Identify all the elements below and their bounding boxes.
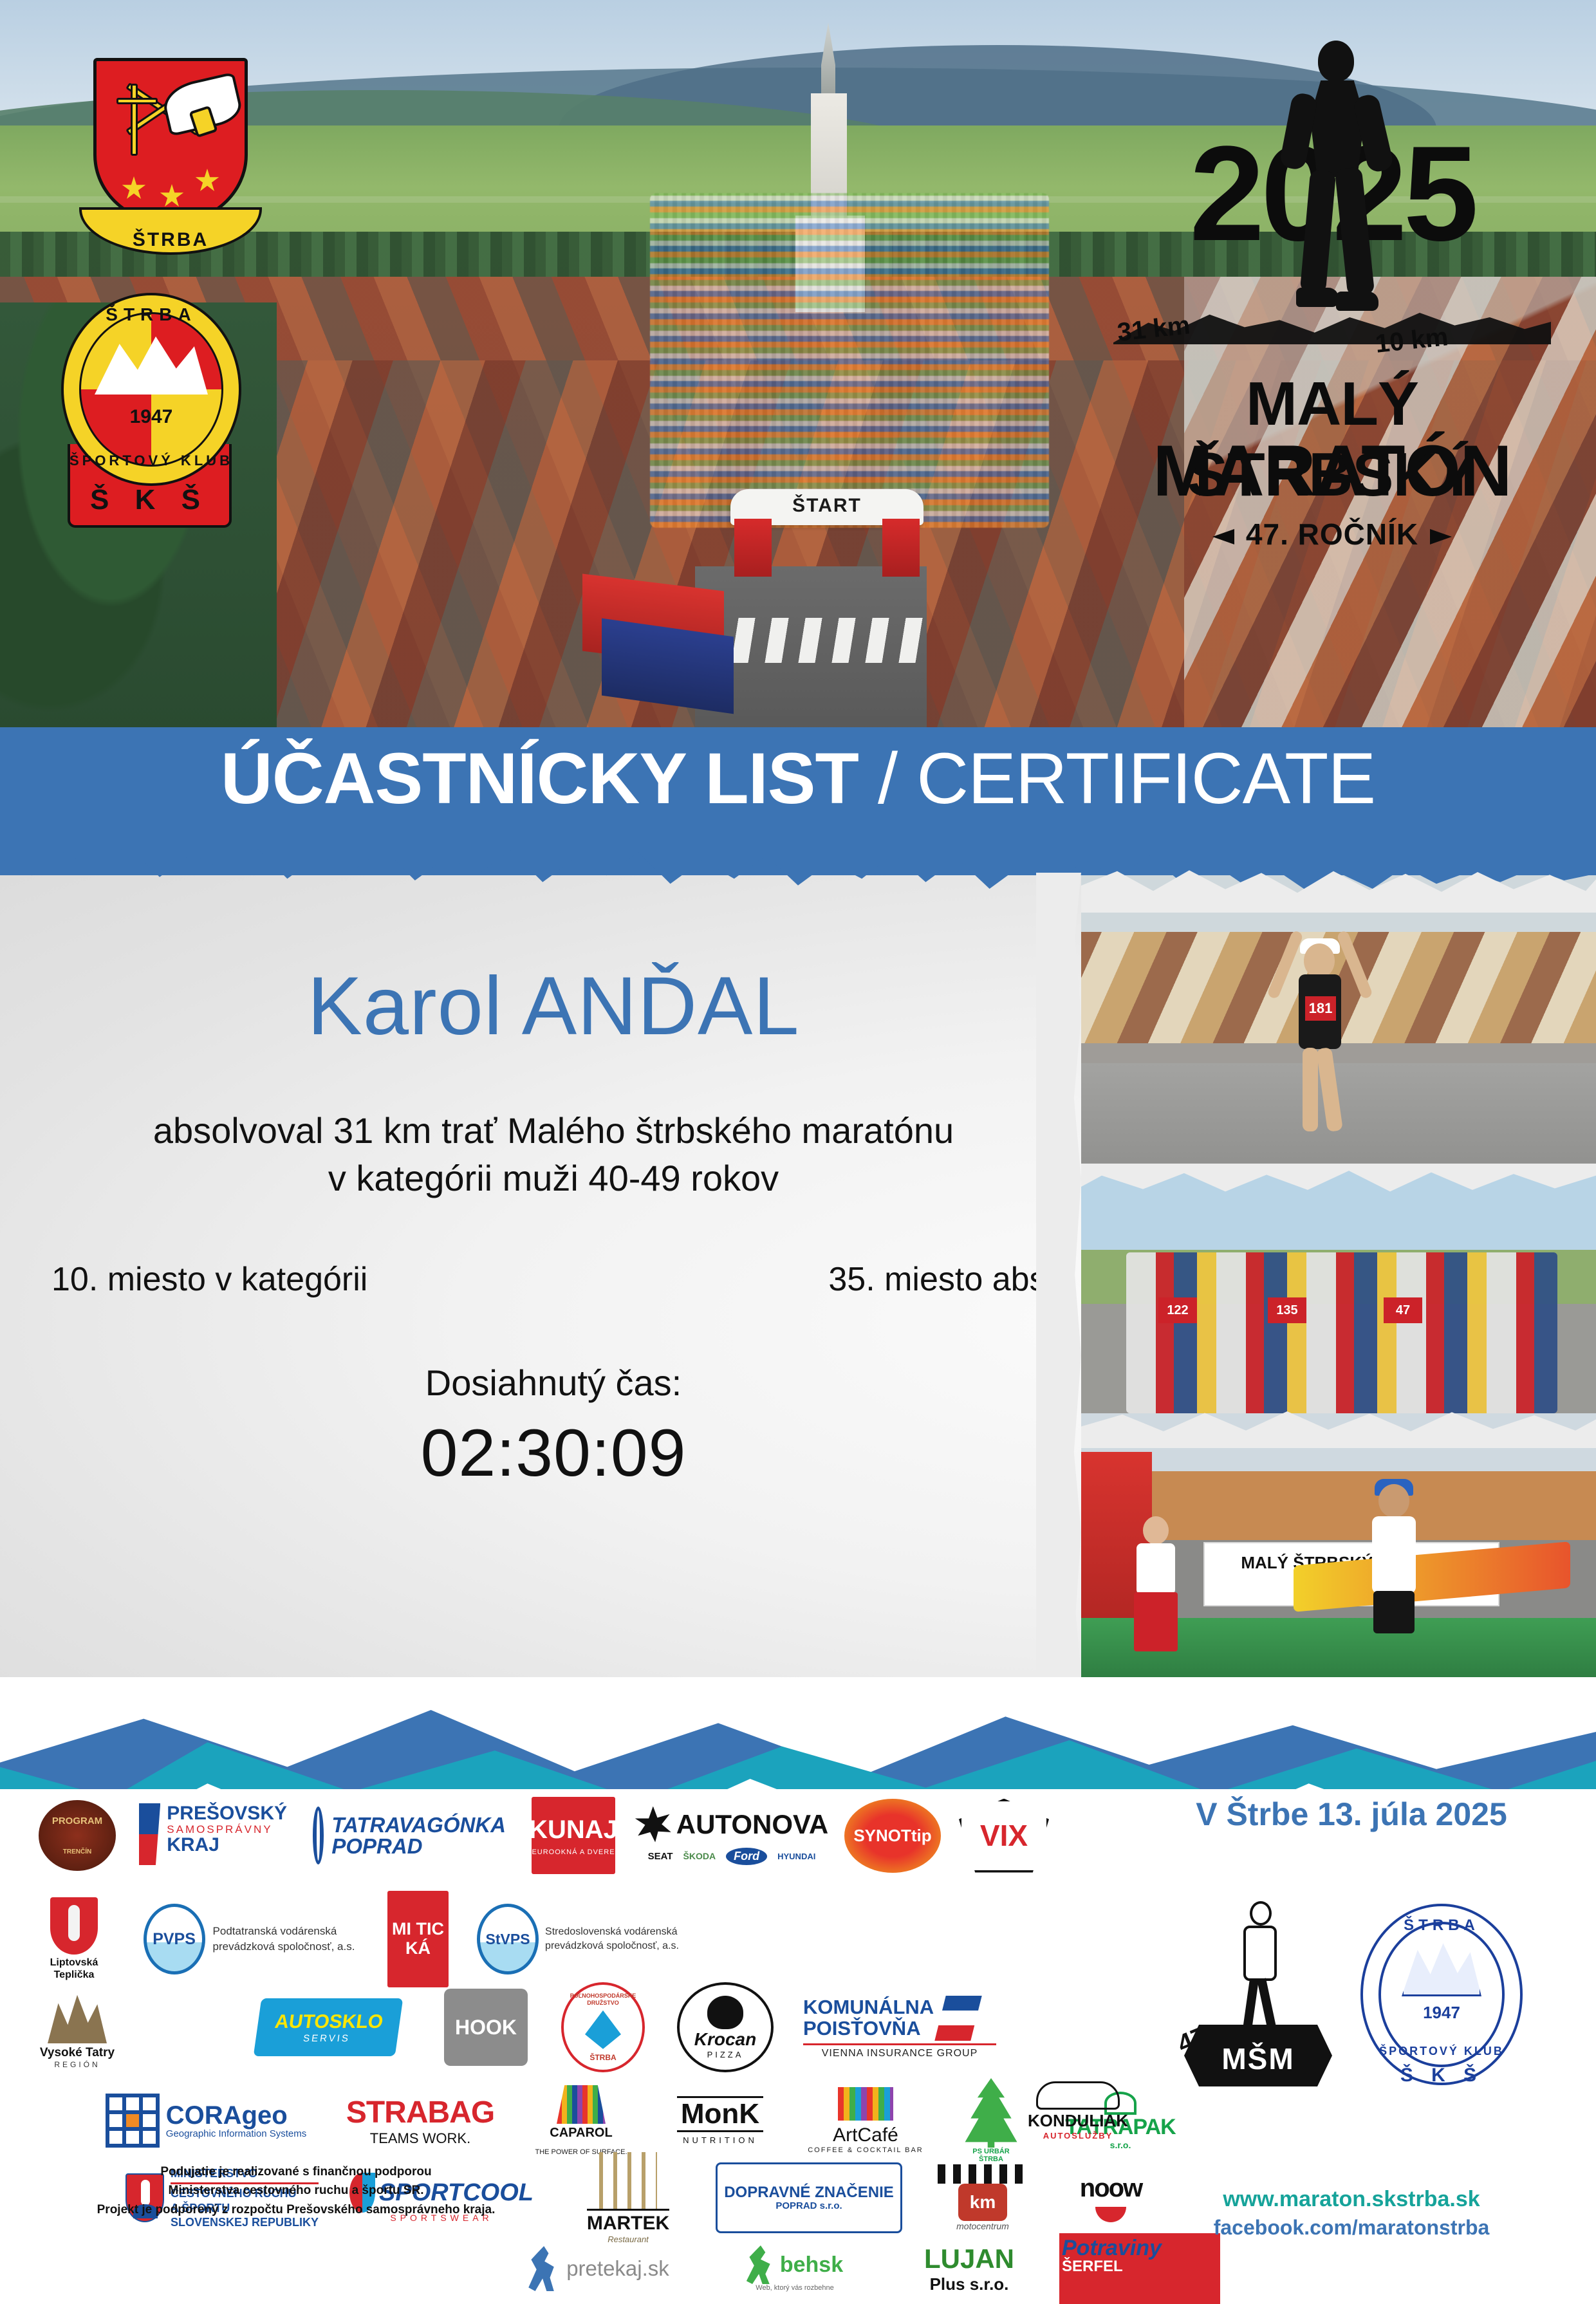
sponsor-miticka-name: MI TIC KÁ [387, 1920, 449, 1958]
sponsor-martek[interactable]: MARTEK Restaurant [564, 2150, 692, 2246]
sponsor-beh-sk[interactable]: behsk Web, ktorý vás rozbehne [714, 2236, 875, 2301]
certificate-description: absolvoval 31 km trať Malého štrbského m… [0, 1107, 1107, 1202]
place-absolute: 35. miesto abs. [828, 1260, 1055, 1299]
official-stamps: 47. MŠM ŠTRBA 1947 ŠPORTOVÝ KLUB Š K Š [1152, 1886, 1551, 2098]
sponsor-tatravagonka[interactable]: TATRAVAGÓNKA POPRAD [313, 1803, 506, 1868]
photo3-winner-shorts [1373, 1591, 1415, 1633]
photo3-folk-girl [1126, 1516, 1184, 1651]
sponsor-krocan-pizza[interactable]: Krocan PIZZA [677, 1982, 774, 2072]
sponsor-corageo-name: CORAgeo [166, 2102, 306, 2129]
pretekaj-runner-icon [528, 2246, 561, 2291]
sponsor-konduliak[interactable]: KONDULIAK AUTOSLUŽBY [1017, 2072, 1139, 2150]
club-logo-bottom-text: ŠPORTOVÝ KLUB [61, 452, 241, 469]
sponsor-km-name: km [958, 2184, 1007, 2221]
sponsor-tatravagonka-name: TATRAVAGÓNKA [331, 1814, 506, 1835]
sponsor-liptovska-teplicka[interactable]: Liptovská Teplička [39, 1897, 109, 1981]
place-category: 10. miesto v kategórii [51, 1260, 367, 1299]
facebook-link[interactable]: facebook.com/maratonstrba [1146, 2216, 1557, 2240]
footer: PROGRAM TRENČÍN PREŠOVSKÝ SAMOSPRÁVNY KR… [0, 1789, 1596, 2258]
photo-finish-line: MALÝ ŠTRBSKÝ MARATÓN [1081, 1413, 1596, 1677]
artcafe-icon [838, 2087, 893, 2121]
sponsor-dopravne-znacenie-sub: POPRAD s.r.o. [775, 2200, 842, 2211]
sponsor-row-2b: AUTOSKLO SERVIS HOOK POĽNOHOSPODÁRSKE DR… [257, 1982, 1016, 2072]
tatravagonka-icon [313, 1807, 324, 1864]
sponsor-pvps-name: PVPS [153, 1930, 196, 1949]
sponsor-vysoke-tatry-sub: REGIÓN [54, 2060, 100, 2069]
sponsor-autonova[interactable]: AUTONOVA SEAT ŠKODA Ford HYUNDAI [638, 1797, 825, 1874]
participant-name: Karol ANĎAL [0, 965, 1107, 1048]
time-label: Dosiahnutý čas: [0, 1362, 1107, 1404]
sponsor-tatravagonka-sub: POPRAD [331, 1835, 506, 1857]
stvps-icon: StVPS [477, 1904, 539, 1974]
sponsor-stvps-sub: Stredoslovenská vodárenská [545, 1925, 679, 1939]
hero-photo: ŠTART ŠTRBA Š K Š ŠTRBA 1947 ŠPORTOVÝ KL… [0, 0, 1596, 740]
sponsor-presovsky-kraj[interactable]: PREŠOVSKÝ SAMOSPRÁVNY KRAJ [139, 1803, 287, 1868]
start-arch-leg-right [882, 519, 920, 577]
distance-ridge: 31 km 10 km [1107, 293, 1557, 370]
photo2-bib-a: 122 [1158, 1297, 1197, 1323]
sponsor-hook-name: HOOK [455, 2016, 517, 2039]
sponsor-kunaj-sub: EUROOKNÁ A DVERE [532, 1848, 615, 1856]
description-line-2: v kategórii muži 40-49 rokov [0, 1155, 1107, 1202]
photo1-runner-head [1304, 943, 1335, 978]
msm-runner-head [1250, 1901, 1272, 1926]
sponsor-strabag-name: STRABAG [346, 2095, 494, 2130]
runner-head [1318, 41, 1354, 82]
time-value: 02:30:09 [0, 1415, 1107, 1492]
start-arch-leg-left [734, 519, 772, 577]
sponsor-pd-strba-sub: ŠTRBA [589, 2053, 616, 2062]
sks-stamp-top: ŠTRBA [1351, 1917, 1532, 1935]
sponsor-komunalna-name: KOMUNÁLNA [803, 1997, 934, 2018]
church-spire [821, 23, 835, 100]
sponsor-synottip-name: SYNOTtip [853, 1826, 931, 1846]
runner-leg-right [1335, 167, 1375, 296]
crest-cross-vertical [131, 84, 138, 156]
sponsor-lujan-sub: Plus s.r.o. [930, 2274, 1009, 2294]
sponsor-liptovska-teplicka-sub: Teplička [54, 1969, 95, 1980]
runners-crowd [650, 193, 1049, 528]
sponsor-km-sub: motocentrum [956, 2221, 1009, 2231]
sponsor-konduliak-sub: AUTOSLUŽBY [1043, 2131, 1113, 2141]
sponsor-komunalna-sub2: VIENNA INSURANCE GROUP [803, 2043, 996, 2059]
sponsor-vysoke-tatry-name: Vysoké Tatry [40, 2046, 115, 2060]
event-logo-line2: MARATÓN [1107, 429, 1557, 512]
website-link[interactable]: www.maraton.skstrba.sk [1146, 2187, 1557, 2212]
sponsor-potraviny-name: Potraviny [1062, 2237, 1162, 2259]
photo3-winner [1351, 1478, 1435, 1664]
sponsor-autonova-name: AUTONOVA [676, 1809, 828, 1840]
page-title-separator: / [858, 738, 916, 819]
funding-note-line-2: Ministerstva cestovného ruchu a športu S… [51, 2181, 541, 2200]
photo-runner-group: 122 135 47 [1081, 1169, 1596, 1439]
photo3-girl-skirt [1134, 1592, 1178, 1651]
photo2-runners [1126, 1252, 1557, 1413]
sponsor-synottip[interactable]: SYNOTtip [844, 1799, 941, 1873]
sponsor-program-trencin-name: PROGRAM [52, 1816, 102, 1826]
autonova-star-icon [635, 1807, 671, 1843]
sponsor-logo-wall: PROGRAM TRENČÍN PREŠOVSKÝ SAMOSPRÁVNY KR… [39, 1789, 1133, 2201]
msm-runner-icon [1227, 1899, 1288, 2034]
photo2-bib-b: 135 [1268, 1297, 1306, 1323]
pvps-icon: PVPS [144, 1904, 205, 1974]
sponsor-noow-name: noow [1080, 2174, 1142, 2203]
pd-strba-drop-icon [585, 2011, 621, 2049]
sponsor-konduliak-name: KONDULIAK [1028, 2111, 1128, 2131]
sks-stamp: ŠTRBA 1947 ŠPORTOVÝ KLUB Š K Š [1351, 1895, 1532, 2094]
sponsor-corageo[interactable]: CORAgeo Geographic Information Systems [103, 2085, 309, 2156]
noow-smile-icon [1095, 2207, 1126, 2222]
sponsor-kunaj-name: KUNAJ [529, 1816, 618, 1844]
msm-runner-torso [1243, 1926, 1277, 1981]
sponsor-miticka[interactable]: MI TIC KÁ [387, 1891, 449, 1987]
sponsor-row-6: pretekaj.sk behsk Web, ktorý vás rozbehn… [515, 2233, 1220, 2304]
photo3-girl-blouse [1137, 1543, 1175, 1595]
sponsor-krocan-sub: PIZZA [707, 2050, 744, 2059]
event-logo-edition-wrap: 47. ROČNÍK [1107, 517, 1557, 552]
club-logo-abbr: Š K Š [70, 484, 229, 516]
sponsor-kunaj[interactable]: KUNAJ EUROOKNÁ A DVERE [532, 1797, 615, 1874]
collage-left-edge [1036, 873, 1081, 1677]
club-logo-year: 1947 [61, 406, 241, 428]
sponsor-km-motocentrum[interactable]: km motocentrum [928, 2156, 1037, 2240]
sponsor-liptovska-teplicka-name: Liptovská [50, 1957, 98, 1968]
sponsor-row-4: Vysoké Tatry REGIÓN [39, 1982, 116, 2079]
sponsor-pvps[interactable]: PVPS Podtatranská vodárenská prevádzková… [136, 1900, 362, 1978]
sponsor-lujan-name: LUJAN [924, 2244, 1014, 2274]
sponsor-presovsky-kraj-sub: SAMOSPRÁVNY [167, 1824, 287, 1835]
strba-coat-of-arms: ŠTRBA [93, 58, 248, 225]
sponsor-corageo-sub: Geographic Information Systems [166, 2129, 306, 2139]
martek-cutlery-icon [599, 2152, 657, 2209]
sponsor-potraviny-serfel[interactable]: Potraviny ŠERFEL [1059, 2233, 1220, 2304]
page-title-light: CERTIFICATE [916, 738, 1375, 819]
sponsor-stvps-name: StVPS [486, 1931, 530, 1948]
sponsor-row-2: Liptovská Teplička PVPS Podtatranská vod… [39, 1891, 684, 1987]
sponsor-monk-sub: NUTRITION [683, 2135, 757, 2145]
sponsor-komunalna-sub: POISŤOVŇA [803, 2018, 934, 2039]
sponsor-presovsky-kraj-name: PREŠOVSKÝ [167, 1803, 287, 1824]
sks-stamp-mid: ŠPORTOVÝ KLUB [1351, 2045, 1532, 2058]
placements: 10. miesto v kategórii 35. miesto abs. [0, 1260, 1107, 1299]
sponsor-krocan-name: Krocan [694, 2029, 756, 2050]
arrow-right-icon [1430, 529, 1452, 544]
strba-sport-club-logo: ŠTRBA 1947 ŠPORTOVÝ KLUB [61, 293, 241, 486]
sponsor-dopravne-znacenie[interactable]: DOPRAVNÉ ZNAČENIE POPRAD s.r.o. [716, 2162, 902, 2233]
photo3-winner-vest [1372, 1516, 1416, 1593]
crest-cross-horizontal [116, 98, 158, 104]
runner-leg-left [1300, 170, 1336, 294]
sponsor-pd-strba[interactable]: POĽNOHOSPODÁRSKE DRUŽSTVO ŠTRBA [561, 1982, 645, 2072]
certificate-content: Karol ANĎAL absolvoval 31 km trať Malého… [0, 965, 1107, 1492]
sponsor-hook[interactable]: HOOK [444, 1989, 528, 2066]
funding-note-line-3: Projekt je podporený z rozpočtu Prešovsk… [51, 2200, 541, 2219]
sponsor-seat[interactable]: SEAT [648, 1851, 673, 1862]
crest-ribbon: ŠTRBA [79, 207, 262, 255]
ps-urbar-tree-icon [963, 2078, 1019, 2148]
photo-collage: 181 122 135 47 MALÝ ŠTRBSKÝ MARATÓN [1081, 873, 1596, 1677]
photo1-runner-leg-left [1303, 1048, 1318, 1131]
sponsor-autosklo-sub: SERVIS [302, 2033, 351, 2044]
krocan-turkey-icon [707, 1996, 743, 2029]
komunalna-flag-icon [934, 1996, 981, 2041]
photo2-bib-c: 47 [1384, 1297, 1422, 1323]
event-logo-edition: 47. ROČNÍK [1246, 517, 1418, 551]
photo3-girl-head [1143, 1516, 1169, 1545]
start-arch-label: ŠTART [730, 495, 923, 517]
caparol-icon [557, 2085, 606, 2124]
footer-right-column: V Štrbe 13. júla 2025 [1146, 1796, 1557, 1833]
club-logo-top-text: ŠTRBA [61, 304, 241, 325]
page-title: ÚČASTNÍCKY LIST / CERTIFICATE [0, 743, 1596, 815]
sponsor-artcafe-name: ArtCafé [833, 2124, 898, 2146]
funding-note: Podujatie je realizované s finančnou pod… [51, 2162, 541, 2219]
sponsor-pretekaj-name: pretekaj.sk [566, 2256, 669, 2281]
sponsor-ford[interactable]: Ford [726, 1848, 767, 1865]
runner-icon [1281, 35, 1390, 319]
sponsor-strabag[interactable]: STRABAG TEAMS WORK. [340, 2085, 501, 2156]
sponsor-behsk-sub: Web, ktorý vás rozbehne [756, 2284, 833, 2292]
liptovska-teplicka-shield-icon [50, 1897, 98, 1955]
msm-abbr: MŠM [1184, 2041, 1332, 2076]
sponsor-vysoke-tatry[interactable]: Vysoké Tatry REGIÓN [39, 1982, 116, 2079]
sponsor-program-trencin[interactable]: PROGRAM TRENČÍN [39, 1800, 116, 1871]
vysoke-tatry-mountain-icon [48, 1992, 107, 2043]
funding-note-line-1: Podujatie je realizované s finančnou pod… [51, 2162, 541, 2181]
photo1-runner: 181 [1274, 932, 1364, 1144]
photo3-winner-head [1378, 1484, 1409, 1518]
checkered-flag-icon [938, 2164, 1028, 2184]
sponsor-program-trencin-sub: TRENČÍN [63, 1848, 91, 1855]
issue-date: V Štrbe 13. júla 2025 [1146, 1796, 1557, 1833]
sponsor-vix-name: VIX [980, 1818, 1028, 1853]
crest-ribbon-label: ŠTRBA [82, 229, 259, 251]
sponsor-hyundai[interactable]: HYUNDAI [777, 1852, 815, 1861]
sponsor-skoda[interactable]: ŠKODA [683, 1851, 716, 1861]
sponsor-pretekaj-sk[interactable]: pretekaj.sk [515, 2236, 682, 2301]
msm-stamp: 47. MŠM [1178, 1899, 1339, 2092]
sponsor-monk-name: MonK [677, 2096, 763, 2132]
msm-badge: MŠM [1184, 2025, 1332, 2086]
sponsor-lujan-plus[interactable]: LUJAN Plus s.r.o. [905, 2236, 1034, 2301]
sponsor-pvps-sub2: prevádzková spoločnosť, a.s. [213, 1939, 355, 1955]
corageo-grid-icon [106, 2094, 160, 2148]
sponsor-monk[interactable]: MonK NUTRITION [659, 2085, 781, 2156]
sponsor-row-1: PROGRAM TRENČÍN PREŠOVSKÝ SAMOSPRÁVNY KR… [39, 1797, 1049, 1874]
sponsor-stvps[interactable]: StVPS Stredoslovenská vodárenská prevádz… [472, 1900, 684, 1978]
sponsor-row-konduliak: KONDULIAK AUTOSLUŽBY [1017, 2072, 1139, 2150]
sponsor-caparol-name: CAPAROL [550, 2126, 612, 2141]
sponsor-dopravne-znacenie-name: DOPRAVNÉ ZNAČENIE [724, 2184, 894, 2200]
sponsor-martek-name: MARTEK [587, 2209, 669, 2234]
sponsor-autosklo-name: AUTOSKLO [274, 2011, 385, 2033]
photo1-runner-bib: 181 [1305, 996, 1336, 1021]
page-title-bold: ÚČASTNÍCKY LIST [221, 738, 858, 819]
runner-torso [1308, 80, 1367, 177]
description-line-1: absolvoval 31 km trať Malého štrbského m… [0, 1107, 1107, 1155]
presovsky-kraj-icon [139, 1803, 160, 1865]
sponsor-pd-strba-name: POĽNOHOSPODÁRSKE DRUŽSTVO [564, 1993, 642, 2007]
sks-stamp-year: 1947 [1351, 2003, 1532, 2023]
sponsor-pvps-sub: Podtatranská vodárenská [213, 1924, 355, 1939]
photo-female-finisher: 181 [1081, 873, 1596, 1201]
sponsor-komunalna-poistovna[interactable]: KOMUNÁLNA POISŤOVŇA VIENNA INSURANCE GRO… [803, 1989, 1016, 2066]
sponsor-presovsky-kraj-sub2: KRAJ [167, 1835, 287, 1855]
konduliak-car-icon [1036, 2081, 1120, 2110]
behsk-runner-icon [747, 2245, 776, 2284]
sponsor-stvps-sub2: prevádzková spoločnosť, a.s. [545, 1939, 679, 1953]
sponsor-vix[interactable]: VIX [959, 1799, 1049, 1873]
sponsor-autosklo[interactable]: AUTOSKLO SERVIS [254, 1998, 404, 2056]
photo1-runner-leg-right [1316, 1047, 1343, 1132]
web-links: www.maraton.skstrba.sk facebook.com/mara… [1146, 2187, 1557, 2240]
sponsor-potraviny-sub: ŠERFEL [1062, 2259, 1162, 2274]
arrow-left-icon [1212, 529, 1234, 544]
start-arch: ŠTART [730, 489, 923, 573]
sks-stamp-abbr: Š K Š [1351, 2065, 1532, 2086]
sponsor-behsk-name: behsk [780, 2253, 843, 2278]
sponsor-strabag-sub: TEAMS WORK. [370, 2130, 470, 2147]
event-logo: 2025 31 km 10 km MALÝ ŠTRBSKÝ MARATÓN 47… [1107, 35, 1557, 576]
